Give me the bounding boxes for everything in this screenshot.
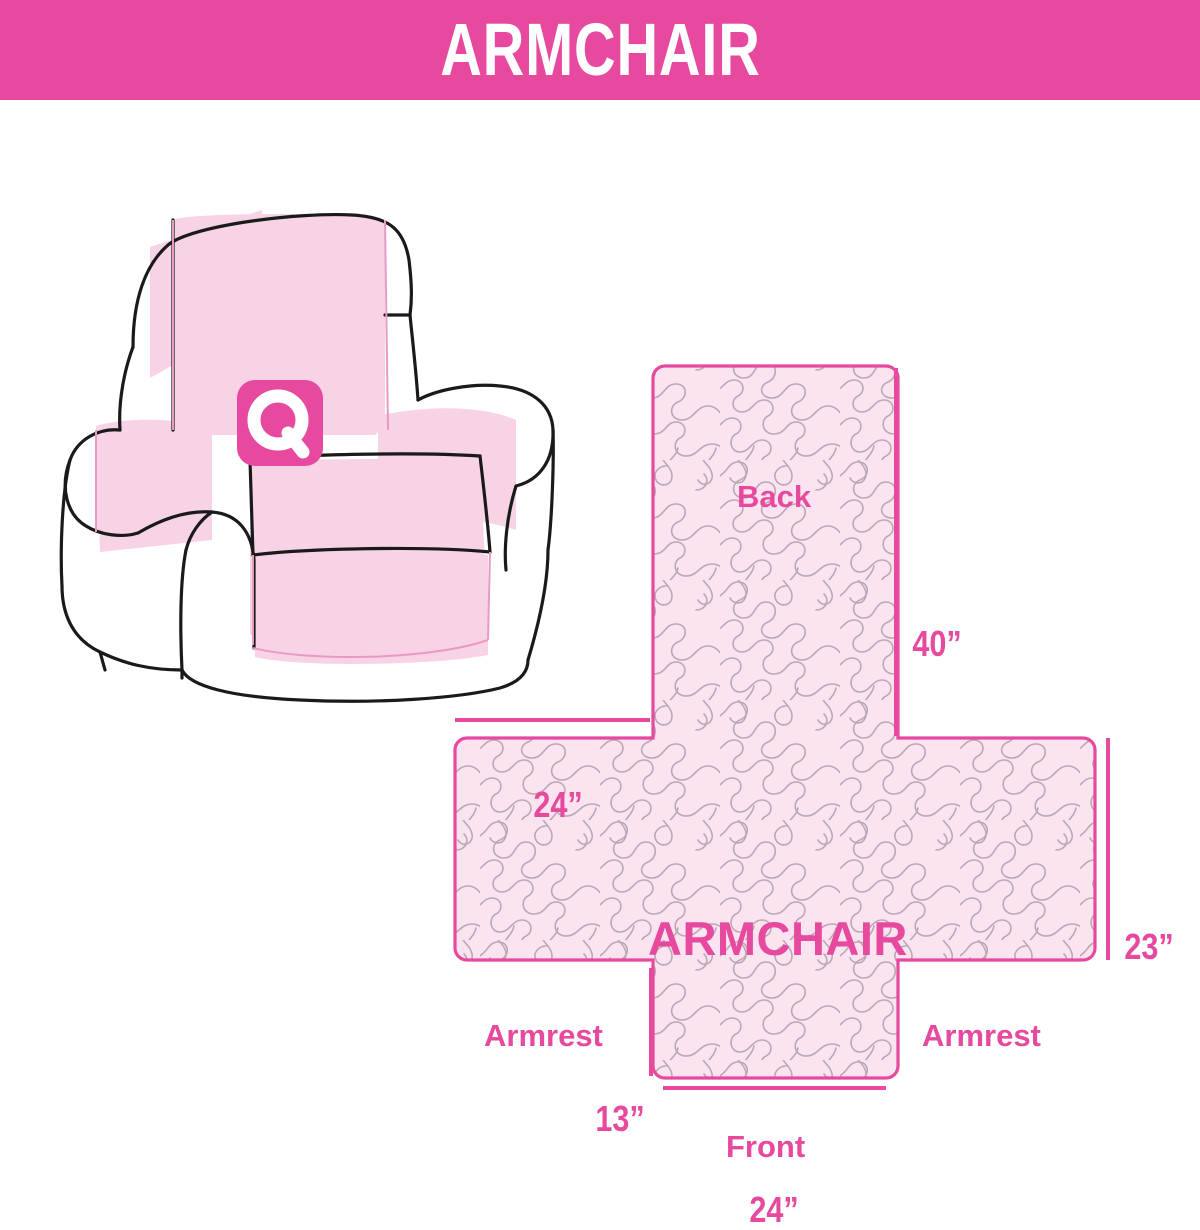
dimension-label-back-width: 24”: [533, 787, 582, 823]
diagram-center-label: ARMCHAIR: [648, 915, 908, 962]
diagram-canvas: Back Armrest Armrest Front ARMCHAIR 40” …: [0, 100, 1200, 1200]
header-banner: ARMCHAIR: [0, 0, 1200, 100]
panel-label-back: Back: [737, 481, 811, 512]
dimension-label-seat-depth: 23”: [1124, 929, 1173, 965]
panel-label-armrest-left: Armrest: [484, 1020, 603, 1051]
panel-label-front: Front: [726, 1131, 805, 1162]
dimension-label-back-height: 40”: [912, 626, 961, 662]
page-title: ARMCHAIR: [440, 13, 760, 87]
dimension-label-front-width: 24”: [749, 1192, 798, 1228]
dimension-label-front-drop: 13”: [595, 1101, 644, 1137]
panel-label-armrest-right: Armrest: [922, 1020, 1041, 1051]
